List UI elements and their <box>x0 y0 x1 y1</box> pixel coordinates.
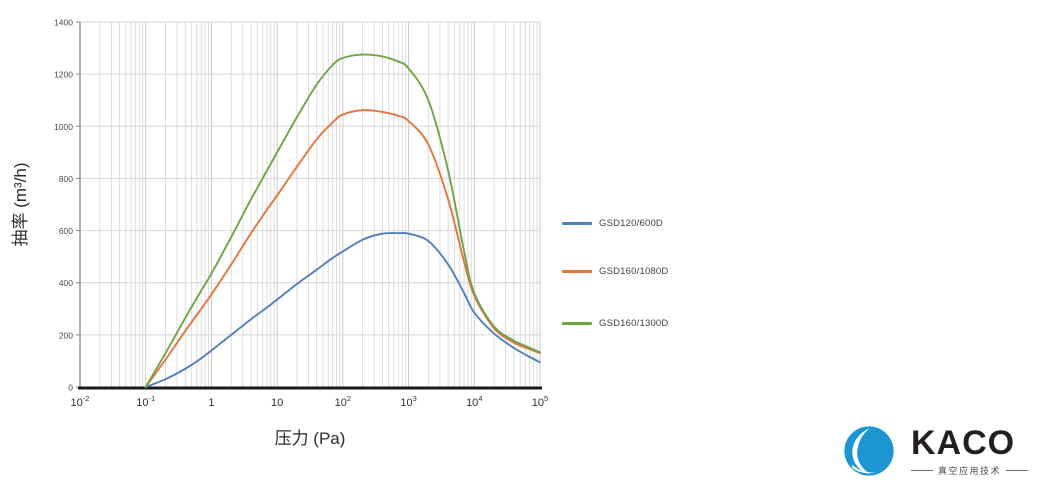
legend-label: GSD160/1300D <box>599 318 668 329</box>
y-tick-label: 1200 <box>54 70 73 80</box>
legend-swatch-icon <box>562 322 592 325</box>
y-tick-label: 800 <box>59 174 73 184</box>
y-axis-title: 抽率 (m³/h) <box>11 162 30 246</box>
logo-rule-right <box>1006 470 1028 471</box>
legend-swatch-icon <box>562 222 592 225</box>
x-tick-label: 105 <box>532 394 548 409</box>
x-tick-label: 103 <box>400 394 416 409</box>
logo-rule-left <box>911 470 933 471</box>
y-tick-label: 600 <box>59 226 73 236</box>
x-axis-title: 压力 (Pa) <box>275 429 346 448</box>
x-tick-label: 102 <box>335 394 351 409</box>
x-tick-label: 10-1 <box>136 394 155 409</box>
chart-legend: GSD120/600DGSD160/1080DGSD160/1300D <box>562 196 742 346</box>
y-tick-label: 0 <box>68 383 73 393</box>
legend-item[interactable]: GSD120/600D <box>562 214 663 232</box>
legend-label: GSD160/1080D <box>599 266 668 277</box>
x-tick-label: 104 <box>466 394 482 409</box>
kaco-wordmark: KACO <box>911 426 1028 460</box>
kaco-subtitle: 真空应用技术 <box>938 464 1001 477</box>
y-tick-label: 1000 <box>54 122 73 132</box>
kaco-logo-mark-icon <box>841 423 897 479</box>
y-tick-label: 400 <box>59 278 73 288</box>
x-tick-label: 1 <box>208 397 214 409</box>
kaco-subtitle-row: 真空应用技术 <box>911 464 1028 477</box>
y-tick-label: 1400 <box>54 18 73 28</box>
x-tick-label: 10 <box>271 397 283 409</box>
kaco-logo-text: KACO 真空应用技术 <box>911 426 1028 477</box>
legend-swatch-icon <box>562 270 592 273</box>
x-tick-label: 10-2 <box>71 394 90 409</box>
x-tick-labels: 10-210-1110102103104105 <box>71 394 549 409</box>
legend-item[interactable]: GSD160/1080D <box>562 262 668 280</box>
legend-label: GSD120/600D <box>599 218 663 229</box>
legend-item[interactable]: GSD160/1300D <box>562 314 668 332</box>
y-axis-title-group: 抽率 (m³/h) <box>11 162 30 246</box>
y-tick-label: 200 <box>59 330 73 340</box>
kaco-logo: KACO 真空应用技术 <box>841 420 1041 482</box>
